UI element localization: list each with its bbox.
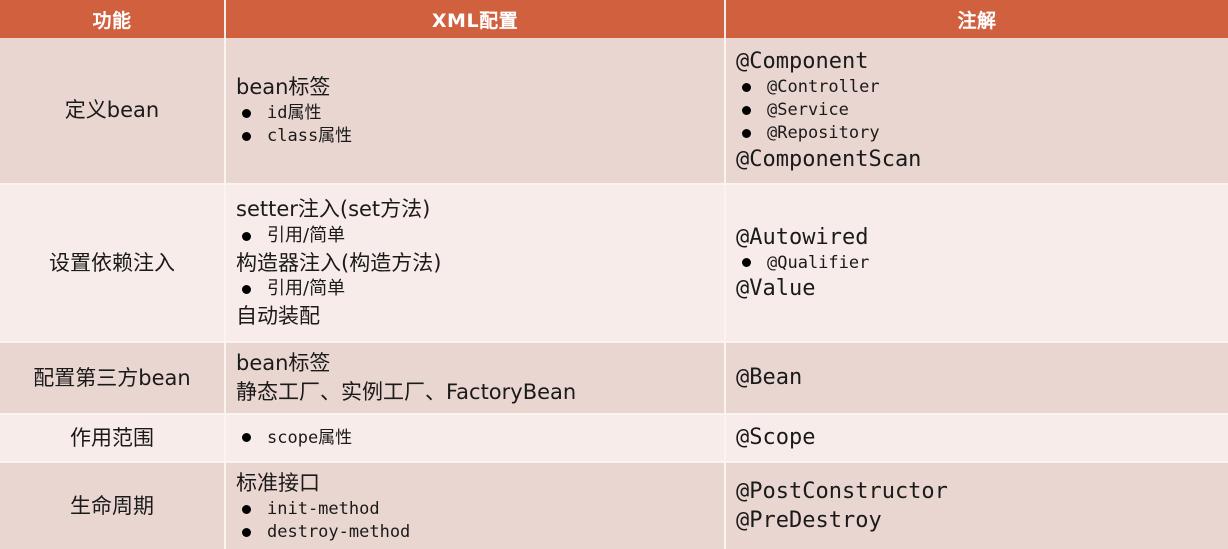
bullet-dot-icon xyxy=(742,83,751,92)
list-item: @Service xyxy=(736,99,1228,122)
table-header: 功能 XML配置 注解 xyxy=(0,0,1228,38)
list-item-label: @Qualifier xyxy=(767,252,869,275)
list-item: @Controller xyxy=(736,76,1228,99)
xml-heading: bean标签 xyxy=(236,73,724,102)
xml-heading: bean标签 xyxy=(236,349,724,378)
feature-label: 作用范围 xyxy=(0,420,224,456)
bullet-dot-icon xyxy=(242,132,251,141)
annotation-tail: @PreDestroy xyxy=(736,506,1228,535)
list-item-label: init-method xyxy=(267,498,380,521)
list-item: @Repository xyxy=(736,122,1228,145)
column-header-annotation: 注解 xyxy=(725,0,1228,38)
feature-label: 配置第三方bean xyxy=(0,360,224,396)
bullet-dot-icon xyxy=(242,109,251,118)
list-item: init-method xyxy=(236,498,724,521)
xml-bullet-list-secondary: 引用/简单 xyxy=(236,277,724,301)
cell-annotation: @PostConstructor @PreDestroy xyxy=(725,462,1228,549)
bullet-dot-icon xyxy=(242,433,251,442)
list-item: id属性 xyxy=(236,102,724,125)
cell-xml: bean标签 静态工厂、实例工厂、FactoryBean xyxy=(225,342,725,414)
list-item: @Qualifier xyxy=(736,252,1228,275)
cell-annotation: @Component @Controller @Service @Repo xyxy=(725,38,1228,184)
list-item-label: 引用/简单 xyxy=(267,224,345,248)
annotation-tail: @Value xyxy=(736,274,1228,303)
annotation-heading: @Scope xyxy=(736,423,1228,452)
list-item-label: scope属性 xyxy=(267,427,352,450)
list-item-label: class属性 xyxy=(267,125,352,148)
list-item: 引用/简单 xyxy=(236,224,724,248)
header-row: 功能 XML配置 注解 xyxy=(0,0,1228,38)
cell-annotation: @Scope xyxy=(725,414,1228,462)
xml-bullet-list: init-method destroy-method xyxy=(236,498,724,544)
cell-feature: 作用范围 xyxy=(0,414,225,462)
cell-xml: scope属性 xyxy=(225,414,725,462)
list-item: class属性 xyxy=(236,125,724,148)
list-item-label: 引用/简单 xyxy=(267,277,345,301)
column-header-xml: XML配置 xyxy=(225,0,725,38)
bullet-dot-icon xyxy=(742,129,751,138)
cell-feature: 设置依赖注入 xyxy=(0,184,225,342)
spring-config-comparison-table: 功能 XML配置 注解 定义bean bean标签 id属性 xyxy=(0,0,1228,549)
xml-heading: 标准接口 xyxy=(236,469,724,498)
xml-heading: setter注入(set方法) xyxy=(236,195,724,224)
xml-bullet-list: 引用/简单 xyxy=(236,224,724,248)
feature-label: 生命周期 xyxy=(0,488,224,524)
cell-xml: bean标签 id属性 class属性 xyxy=(225,38,725,184)
table-row: 设置依赖注入 setter注入(set方法) 引用/简单 构造器注入(构造方法) xyxy=(0,184,1228,342)
feature-label: 设置依赖注入 xyxy=(0,245,224,281)
table-body: 定义bean bean标签 id属性 class属性 xyxy=(0,38,1228,549)
xml-heading-secondary: 构造器注入(构造方法) xyxy=(236,249,724,278)
xml-tail: 自动装配 xyxy=(236,302,724,331)
cell-feature: 生命周期 xyxy=(0,462,225,549)
bullet-dot-icon xyxy=(742,106,751,115)
annotation-bullet-list: @Controller @Service @Repository xyxy=(736,76,1228,144)
xml-line-secondary: 静态工厂、实例工厂、FactoryBean xyxy=(236,378,724,407)
annotation-tail: @ComponentScan xyxy=(736,145,1228,174)
cell-xml: 标准接口 init-method destroy-method xyxy=(225,462,725,549)
annotation-heading: @Component xyxy=(736,47,1228,76)
list-item: 引用/简单 xyxy=(236,277,724,301)
bullet-dot-icon xyxy=(242,232,251,241)
list-item-label: id属性 xyxy=(267,102,321,125)
list-item: destroy-method xyxy=(236,521,724,544)
annotation-bullet-list: @Qualifier xyxy=(736,252,1228,275)
annotation-heading: @PostConstructor xyxy=(736,477,1228,506)
bullet-dot-icon xyxy=(242,528,251,537)
cell-feature: 定义bean xyxy=(0,38,225,184)
bullet-dot-icon xyxy=(242,505,251,514)
cell-xml: setter注入(set方法) 引用/简单 构造器注入(构造方法) 引用/简单 xyxy=(225,184,725,342)
annotation-heading: @Autowired xyxy=(736,223,1228,252)
list-item-label: @Repository xyxy=(767,122,880,145)
xml-bullet-list: scope属性 xyxy=(236,427,724,450)
cell-annotation: @Autowired @Qualifier @Value xyxy=(725,184,1228,342)
annotation-heading: @Bean xyxy=(736,363,1228,392)
list-item: scope属性 xyxy=(236,427,724,450)
bullet-dot-icon xyxy=(742,258,751,267)
table-row: 定义bean bean标签 id属性 class属性 xyxy=(0,38,1228,184)
column-header-feature: 功能 xyxy=(0,0,225,38)
cell-annotation: @Bean xyxy=(725,342,1228,414)
list-item-label: @Service xyxy=(767,99,849,122)
bullet-dot-icon xyxy=(242,285,251,294)
feature-label: 定义bean xyxy=(0,92,224,128)
cell-feature: 配置第三方bean xyxy=(0,342,225,414)
table-row: 作用范围 scope属性 @Scope xyxy=(0,414,1228,462)
xml-bullet-list: id属性 class属性 xyxy=(236,102,724,148)
list-item-label: @Controller xyxy=(767,76,880,99)
table-row: 配置第三方bean bean标签 静态工厂、实例工厂、FactoryBean @… xyxy=(0,342,1228,414)
table-row: 生命周期 标准接口 init-method destroy-method xyxy=(0,462,1228,549)
list-item-label: destroy-method xyxy=(267,521,410,544)
